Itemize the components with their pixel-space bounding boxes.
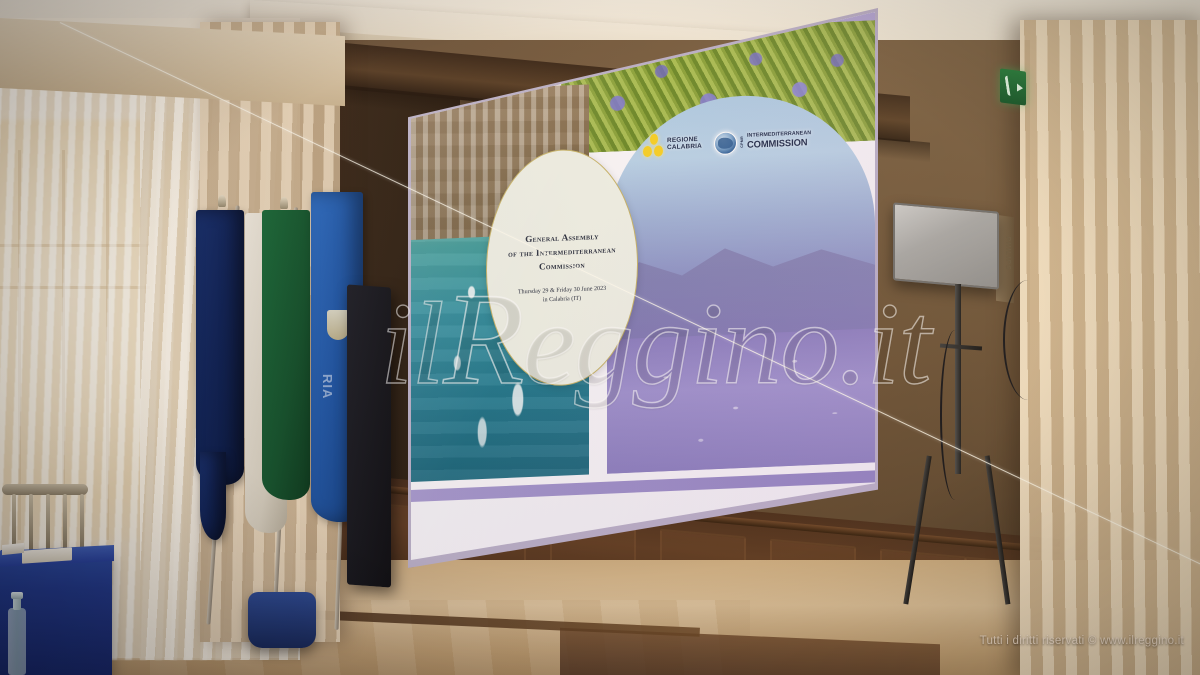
cpmr-label: CPMR xyxy=(740,136,744,148)
running-man-icon xyxy=(1004,75,1016,95)
italian-flag xyxy=(262,210,310,500)
slide-title: General Assembly of the Intermediterrane… xyxy=(508,228,616,275)
slide-canvas: REGIONE CALABRIA CPMR INTERMEDITERRANEAN… xyxy=(411,12,875,502)
logo-line-2: COMMISSION xyxy=(747,137,811,149)
screenshot-root: RIA xyxy=(0,0,1200,675)
exit-arrow-icon xyxy=(1017,83,1023,92)
chair-spindle xyxy=(63,494,67,552)
power-cable xyxy=(940,330,970,500)
chair-spindle xyxy=(80,494,84,552)
presentation-slide: REGIONE CALABRIA CPMR INTERMEDITERRANEAN… xyxy=(411,12,875,560)
chair-spindle xyxy=(29,494,33,552)
intermediterranean-commission-logo-text: INTERMEDITERRANEAN COMMISSION xyxy=(747,131,811,149)
pa-speaker xyxy=(347,284,391,587)
flagpole-finial xyxy=(280,197,288,209)
intermediterranean-commission-logo: CPMR INTERMEDITERRANEAN COMMISSION xyxy=(714,128,811,155)
regione-calabria-logo-text: REGIONE CALABRIA xyxy=(667,137,702,152)
globe-icon xyxy=(714,131,737,155)
european-union-flag-tail xyxy=(200,452,226,540)
flagpole-finial xyxy=(218,195,226,207)
calabria-coat-of-arms xyxy=(327,310,349,340)
sea-surface xyxy=(607,328,875,473)
regione-calabria-logo: REGIONE CALABRIA xyxy=(643,132,702,158)
screen-surface: REGIONE CALABRIA CPMR INTERMEDITERRANEAN… xyxy=(411,12,875,560)
monitor-brand-label: PHILIPS xyxy=(1004,236,1011,271)
emergency-exit-sign xyxy=(1000,68,1026,105)
philips-monitor xyxy=(893,202,999,289)
flag-stand-base xyxy=(248,592,316,648)
calabria-flag-text: RIA xyxy=(320,374,335,399)
bottle-cap xyxy=(11,592,23,599)
power-cable xyxy=(1003,280,1053,400)
projection-screen: REGIONE CALABRIA CPMR INTERMEDITERRANEAN… xyxy=(408,8,888,608)
copyright-credit: Tutti i diritti riservati © www.ilreggin… xyxy=(980,635,1184,647)
european-union-flag xyxy=(196,210,244,485)
water-bottle xyxy=(8,608,26,675)
slide-subtitle: Thursday 29 & Friday 30 June 2023 in Cal… xyxy=(518,284,606,306)
calabria-emblem-icon xyxy=(643,133,664,158)
chair-spindle xyxy=(46,494,50,552)
logo-line-2: CALABRIA xyxy=(667,143,702,151)
